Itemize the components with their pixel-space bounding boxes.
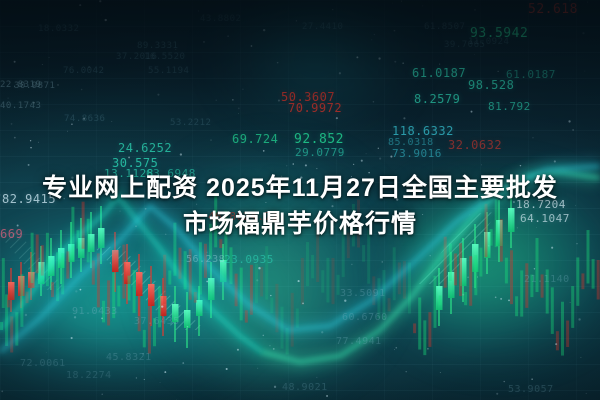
page-title-line-1: 专业网上配资 2025年11月27日全国主要批发 bbox=[26, 170, 574, 206]
page-title-line-2: 市场福鼎芋价格行情 bbox=[26, 206, 574, 242]
page-title: 专业网上配资 2025年11月27日全国主要批发 市场福鼎芋价格行情 bbox=[0, 170, 600, 242]
banner-image: 93.594252.61861.018798.5288.257981.79250… bbox=[0, 0, 600, 400]
